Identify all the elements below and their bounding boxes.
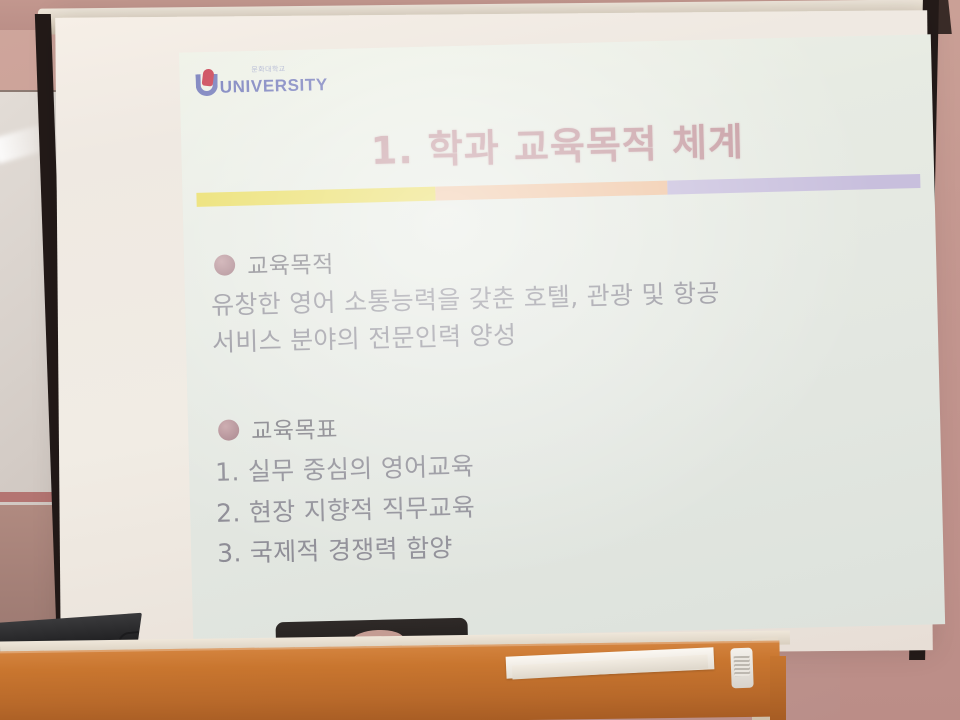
presentation-slide: UNIVERSITY 문화대학교 1. 학과 교육목적 체계 교육목적 유창한 … bbox=[179, 34, 945, 642]
section-title-purpose: 교육목적 bbox=[247, 245, 334, 281]
podium-desk bbox=[0, 636, 960, 720]
logo-wordmark: UNIVERSITY bbox=[220, 76, 328, 96]
projector-remote-control[interactable] bbox=[730, 648, 753, 689]
projection-screen-surface: UNIVERSITY 문화대학교 1. 학과 교육목적 체계 교육목적 유창한 … bbox=[55, 10, 933, 658]
slide-body: 교육목적 유창한 영어 소통능력을 갖춘 호텔, 관광 및 항공 서비스 분야의… bbox=[214, 231, 922, 575]
logo-korean-subtext: 문화대학교 bbox=[251, 64, 285, 75]
desk-right-edge bbox=[770, 656, 786, 720]
peach-segment bbox=[435, 181, 667, 201]
bullet-dot-icon bbox=[218, 419, 240, 441]
bullet-dot-icon bbox=[214, 254, 236, 276]
lavender-segment bbox=[667, 174, 921, 195]
classroom-scene: UNIVERSITY 문화대학교 1. 학과 교육목적 체계 교육목적 유창한 … bbox=[0, 0, 960, 720]
university-u-logo-icon bbox=[195, 70, 218, 97]
section-title-objectives: 교육목표 bbox=[251, 410, 338, 446]
yellow-segment bbox=[196, 187, 435, 207]
slide-title: 1. 학과 교육목적 체계 bbox=[181, 106, 934, 179]
decorative-color-bar bbox=[196, 174, 920, 207]
remote-buttons bbox=[734, 656, 751, 677]
whiteboard-marker-tray bbox=[0, 492, 56, 502]
